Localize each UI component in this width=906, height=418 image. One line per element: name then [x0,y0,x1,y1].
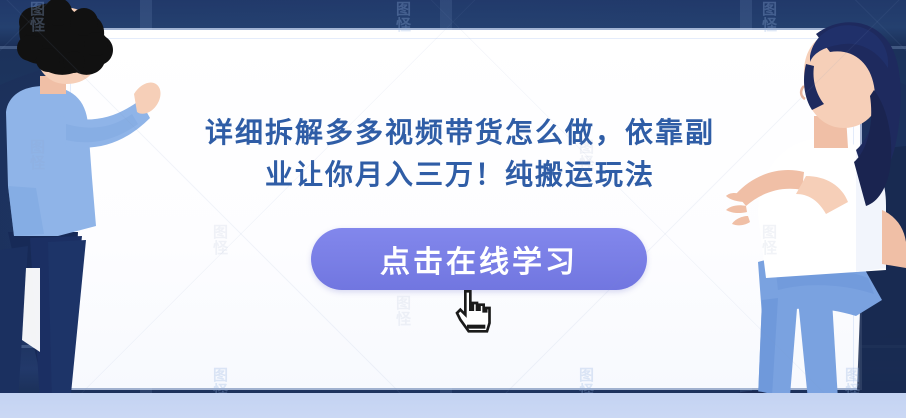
enroll-online-button[interactable]: 点击在线学习 [311,228,647,290]
seated-woman-illustration [706,0,906,418]
promo-banner: 详细拆解多多视频带货怎么做，依靠副 业让你月入三万！纯搬运玩法 点击在线学习 图… [0,0,906,418]
standing-man-illustration [0,0,170,418]
page-title: 详细拆解多多视频带货怎么做，依靠副 业让你月入三万！纯搬运玩法 [150,112,770,196]
bottom-accent-strip [0,393,906,418]
